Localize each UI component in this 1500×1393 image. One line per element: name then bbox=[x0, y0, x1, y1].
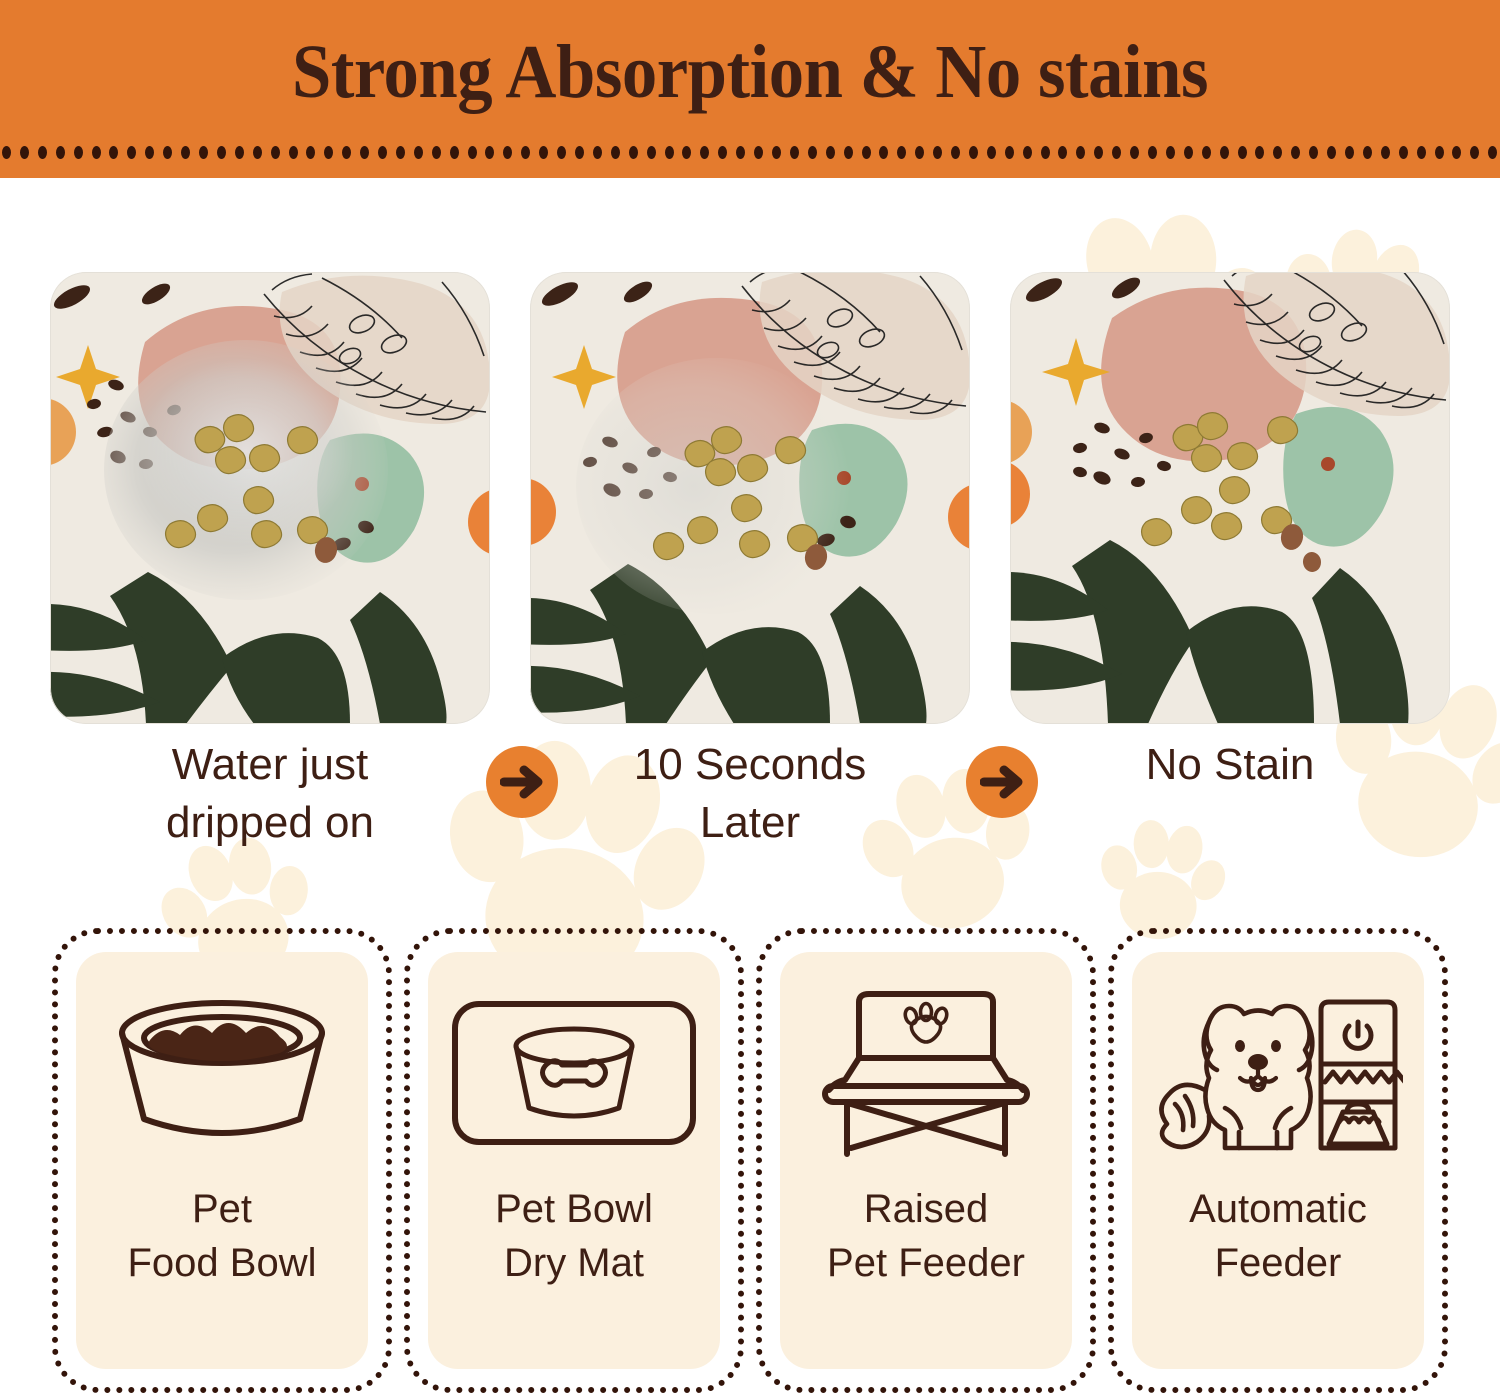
header-dot bbox=[611, 146, 620, 159]
header-dot bbox=[1327, 146, 1336, 159]
header-dot bbox=[432, 146, 441, 159]
card-label-line: Pet Bowl bbox=[495, 1182, 653, 1236]
header-dot bbox=[969, 146, 978, 159]
caption-line: Water just bbox=[50, 736, 490, 794]
header-dot bbox=[1041, 146, 1050, 159]
card-panel: Raised Pet Feeder bbox=[780, 952, 1072, 1369]
header-dot bbox=[1417, 146, 1426, 159]
header-dot bbox=[575, 146, 584, 159]
header-dot bbox=[933, 146, 942, 159]
card-label-line: Dry Mat bbox=[495, 1236, 653, 1290]
header-dot bbox=[718, 146, 727, 159]
header-dot bbox=[503, 146, 512, 159]
header-dot bbox=[682, 146, 691, 159]
card-label: Automatic Feeder bbox=[1189, 1182, 1367, 1291]
header-dot bbox=[468, 146, 477, 159]
header-dot bbox=[414, 146, 423, 159]
demo-captions: Water just dripped on 10 Seconds Later N… bbox=[0, 736, 1500, 886]
card-raised-pet-feeder[interactable]: Raised Pet Feeder bbox=[756, 928, 1096, 1393]
header-dot bbox=[253, 146, 262, 159]
header-dot bbox=[92, 146, 101, 159]
header-dot bbox=[271, 146, 280, 159]
page-title: Strong Absorption & No stains bbox=[53, 34, 1448, 110]
header-dot bbox=[826, 146, 835, 159]
header-dot bbox=[808, 146, 817, 159]
header-dot bbox=[145, 146, 154, 159]
header-dot bbox=[1399, 146, 1408, 159]
header-dot bbox=[1220, 146, 1229, 159]
header-dot bbox=[1435, 146, 1444, 159]
header-dot bbox=[987, 146, 996, 159]
header-dot bbox=[1470, 146, 1479, 159]
card-panel: Pet Food Bowl bbox=[76, 952, 368, 1369]
card-panel: Pet Bowl Dry Mat bbox=[428, 952, 720, 1369]
pet-mat-photo-wet bbox=[50, 272, 490, 724]
card-label-line: Feeder bbox=[1189, 1236, 1367, 1290]
header-dot bbox=[199, 146, 208, 159]
header-dot bbox=[521, 146, 530, 159]
header-dot bbox=[790, 146, 799, 159]
header-dot bbox=[235, 146, 244, 159]
header-dot bbox=[951, 146, 960, 159]
use-case-cards: Pet Food Bowl bbox=[0, 928, 1500, 1393]
header-dot bbox=[1381, 146, 1390, 159]
card-label: Pet Bowl Dry Mat bbox=[495, 1182, 653, 1291]
card-label-line: Pet bbox=[128, 1182, 317, 1236]
header-dot bbox=[181, 146, 190, 159]
caption-water-dripped: Water just dripped on bbox=[50, 736, 490, 852]
header-dot bbox=[1238, 146, 1247, 159]
card-label: Pet Food Bowl bbox=[128, 1182, 317, 1291]
pet-mat-photo-dry bbox=[1010, 272, 1450, 724]
header-dot bbox=[163, 146, 172, 159]
header-dot bbox=[217, 146, 226, 159]
header-dot bbox=[700, 146, 709, 159]
header-dot bbox=[897, 146, 906, 159]
header-dot bbox=[378, 146, 387, 159]
header-dot bbox=[1309, 146, 1318, 159]
header-dot bbox=[127, 146, 136, 159]
header-dot bbox=[1076, 146, 1085, 159]
infographic-page: Strong Absorption & No stains bbox=[0, 0, 1500, 1393]
caption-line: dripped on bbox=[50, 794, 490, 852]
header-dot bbox=[1452, 146, 1461, 159]
caption-line: No Stain bbox=[1010, 736, 1450, 794]
header-dot bbox=[665, 146, 674, 159]
card-label-line: Pet Feeder bbox=[827, 1236, 1025, 1290]
header-dot bbox=[1202, 146, 1211, 159]
caption-no-stain: No Stain bbox=[1010, 736, 1450, 794]
raised-feeder-stand-icon bbox=[811, 978, 1041, 1168]
header-dot bbox=[557, 146, 566, 159]
header-dot bbox=[1255, 146, 1264, 159]
bowl-on-mat-icon bbox=[449, 978, 699, 1168]
pet-mat-photo-drying bbox=[530, 272, 970, 724]
card-label-line: Automatic bbox=[1189, 1182, 1367, 1236]
header-dot bbox=[1094, 146, 1103, 159]
card-panel: Automatic Feeder bbox=[1132, 952, 1424, 1369]
header-dot bbox=[56, 146, 65, 159]
header-dot bbox=[485, 146, 494, 159]
header-dot-divider bbox=[0, 146, 1500, 160]
header-dot bbox=[647, 146, 656, 159]
header-banner: Strong Absorption & No stains bbox=[0, 0, 1500, 178]
card-automatic-feeder[interactable]: Automatic Feeder bbox=[1108, 928, 1448, 1393]
header-dot bbox=[360, 146, 369, 159]
header-dot bbox=[289, 146, 298, 159]
header-dot bbox=[1005, 146, 1014, 159]
header-dot bbox=[450, 146, 459, 159]
absorption-demo-row bbox=[0, 272, 1500, 724]
header-dot bbox=[593, 146, 602, 159]
header-dot bbox=[38, 146, 47, 159]
header-dot bbox=[1273, 146, 1282, 159]
header-dot bbox=[20, 146, 29, 159]
header-dot bbox=[2, 146, 11, 159]
header-dot bbox=[109, 146, 118, 159]
header-dot bbox=[736, 146, 745, 159]
caption-line: 10 Seconds bbox=[530, 736, 970, 794]
header-dot bbox=[1112, 146, 1121, 159]
dog-with-automatic-feeder-icon bbox=[1153, 978, 1403, 1168]
caption-line: Later bbox=[530, 794, 970, 852]
dog-food-bowl-icon bbox=[102, 978, 342, 1168]
header-dot bbox=[862, 146, 871, 159]
card-label: Raised Pet Feeder bbox=[827, 1182, 1025, 1291]
header-dot bbox=[1345, 146, 1354, 159]
header-dot bbox=[844, 146, 853, 159]
card-pet-bowl-dry-mat[interactable]: Pet Bowl Dry Mat bbox=[404, 928, 744, 1393]
header-dot bbox=[1488, 146, 1497, 159]
header-dot bbox=[915, 146, 924, 159]
header-dot bbox=[772, 146, 781, 159]
header-dot bbox=[1291, 146, 1300, 159]
caption-ten-seconds: 10 Seconds Later bbox=[530, 736, 970, 852]
card-label-line: Food Bowl bbox=[128, 1236, 317, 1290]
card-label-line: Raised bbox=[827, 1182, 1025, 1236]
header-dot bbox=[629, 146, 638, 159]
header-dot bbox=[1184, 146, 1193, 159]
header-dot bbox=[879, 146, 888, 159]
header-dot bbox=[306, 146, 315, 159]
header-dot bbox=[754, 146, 763, 159]
header-dot bbox=[342, 146, 351, 159]
card-pet-food-bowl[interactable]: Pet Food Bowl bbox=[52, 928, 392, 1393]
header-dot bbox=[396, 146, 405, 159]
header-dot bbox=[1363, 146, 1372, 159]
header-dot bbox=[74, 146, 83, 159]
header-dot bbox=[1058, 146, 1067, 159]
header-dot bbox=[324, 146, 333, 159]
header-dot bbox=[1023, 146, 1032, 159]
header-dot bbox=[1148, 146, 1157, 159]
header-dot bbox=[1130, 146, 1139, 159]
header-dot bbox=[1166, 146, 1175, 159]
header-dot bbox=[539, 146, 548, 159]
